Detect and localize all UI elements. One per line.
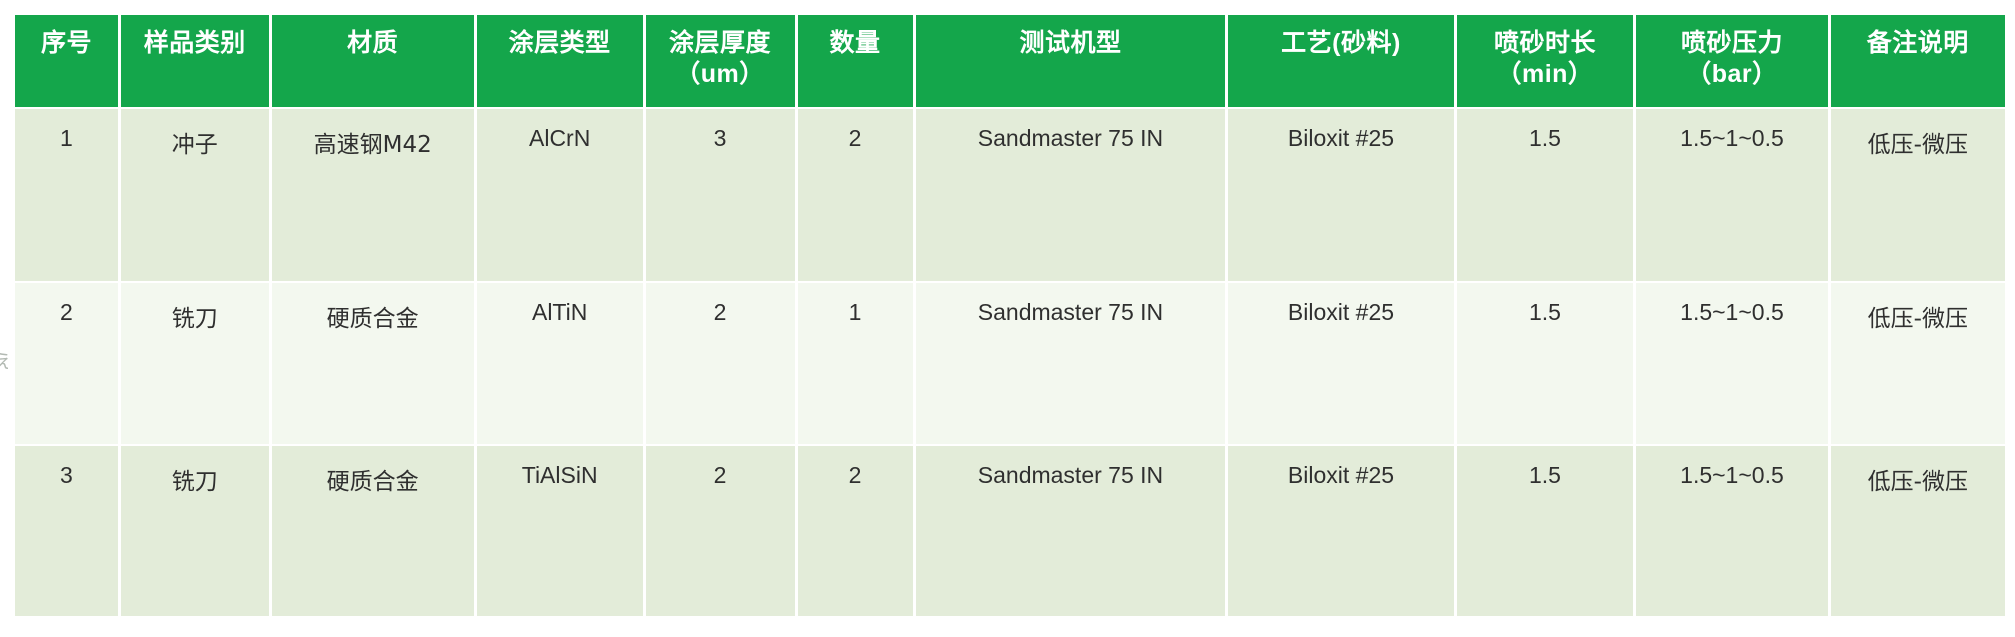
table-row[interactable]: 3铣刀硬质合金TiAlSiN22Sandmaster 75 INBiloxit … <box>15 446 2005 616</box>
cell-r0-c3: AlCrN <box>477 109 643 281</box>
cell-r2-c1: 铣刀 <box>121 446 269 616</box>
cell-r1-c8: 1.5 <box>1457 283 1634 443</box>
cell-r0-c6: Sandmaster 75 IN <box>916 109 1226 281</box>
cell-r0-c8: 1.5 <box>1457 109 1634 281</box>
column-header-2[interactable]: 材质 <box>272 15 474 107</box>
cell-r0-c4: 3 <box>646 109 795 281</box>
table-header-row: 序号样品类别材质涂层类型涂层厚度 （um）数量测试机型工艺(砂料)喷砂时长 （m… <box>15 15 2005 107</box>
column-header-7[interactable]: 工艺(砂料) <box>1228 15 1453 107</box>
cell-r1-c7: Biloxit #25 <box>1228 283 1453 443</box>
cell-r1-c6: Sandmaster 75 IN <box>916 283 1226 443</box>
table-row[interactable]: 2铣刀硬质合金AlTiN21Sandmaster 75 INBiloxit #2… <box>15 283 2005 443</box>
column-header-3[interactable]: 涂层类型 <box>477 15 643 107</box>
column-header-9[interactable]: 喷砂压力 （bar） <box>1636 15 1827 107</box>
column-header-5[interactable]: 数量 <box>798 15 913 107</box>
cell-r2-c4: 2 <box>646 446 795 616</box>
cell-r2-c8: 1.5 <box>1457 446 1634 616</box>
cell-r1-c0: 2 <box>15 283 118 443</box>
table-body: 1冲子高速钢M42AlCrN32Sandmaster 75 INBiloxit … <box>15 109 2005 616</box>
cell-r1-c5: 1 <box>798 283 913 443</box>
cell-r0-c7: Biloxit #25 <box>1228 109 1453 281</box>
column-header-6[interactable]: 测试机型 <box>916 15 1226 107</box>
cell-r2-c9: 1.5~1~0.5 <box>1636 446 1827 616</box>
cell-r0-c2: 高速钢M42 <box>272 109 474 281</box>
screenshot-root: え 序号样品类别材质涂层类型涂层厚度 （um）数量测试机型工艺(砂料)喷砂时长 … <box>0 0 2015 637</box>
cell-r1-c4: 2 <box>646 283 795 443</box>
cell-r2-c3: TiAlSiN <box>477 446 643 616</box>
column-header-1[interactable]: 样品类别 <box>121 15 269 107</box>
column-header-4[interactable]: 涂层厚度 （um） <box>646 15 795 107</box>
cell-r0-c0: 1 <box>15 109 118 281</box>
cell-r2-c10: 低压-微压 <box>1831 446 2005 616</box>
sample-specification-table: 序号样品类别材质涂层类型涂层厚度 （um）数量测试机型工艺(砂料)喷砂时长 （m… <box>12 13 2008 618</box>
column-header-0[interactable]: 序号 <box>15 15 118 107</box>
table-header: 序号样品类别材质涂层类型涂层厚度 （um）数量测试机型工艺(砂料)喷砂时长 （m… <box>15 15 2005 107</box>
cell-r1-c1: 铣刀 <box>121 283 269 443</box>
column-header-10[interactable]: 备注说明 <box>1831 15 2005 107</box>
cell-r2-c6: Sandmaster 75 IN <box>916 446 1226 616</box>
cell-r1-c3: AlTiN <box>477 283 643 443</box>
clipped-edge-glyph: え <box>0 352 8 373</box>
cell-r1-c9: 1.5~1~0.5 <box>1636 283 1827 443</box>
sample-specification-table-container: 序号样品类别材质涂层类型涂层厚度 （um）数量测试机型工艺(砂料)喷砂时长 （m… <box>12 13 2008 618</box>
cell-r2-c7: Biloxit #25 <box>1228 446 1453 616</box>
cell-r0-c5: 2 <box>798 109 913 281</box>
column-header-8[interactable]: 喷砂时长 （min） <box>1457 15 1634 107</box>
cell-r0-c9: 1.5~1~0.5 <box>1636 109 1827 281</box>
cell-r2-c0: 3 <box>15 446 118 616</box>
cell-r0-c10: 低压-微压 <box>1831 109 2005 281</box>
cell-r1-c2: 硬质合金 <box>272 283 474 443</box>
cell-r0-c1: 冲子 <box>121 109 269 281</box>
table-row[interactable]: 1冲子高速钢M42AlCrN32Sandmaster 75 INBiloxit … <box>15 109 2005 281</box>
cell-r1-c10: 低压-微压 <box>1831 283 2005 443</box>
cell-r2-c5: 2 <box>798 446 913 616</box>
cell-r2-c2: 硬质合金 <box>272 446 474 616</box>
